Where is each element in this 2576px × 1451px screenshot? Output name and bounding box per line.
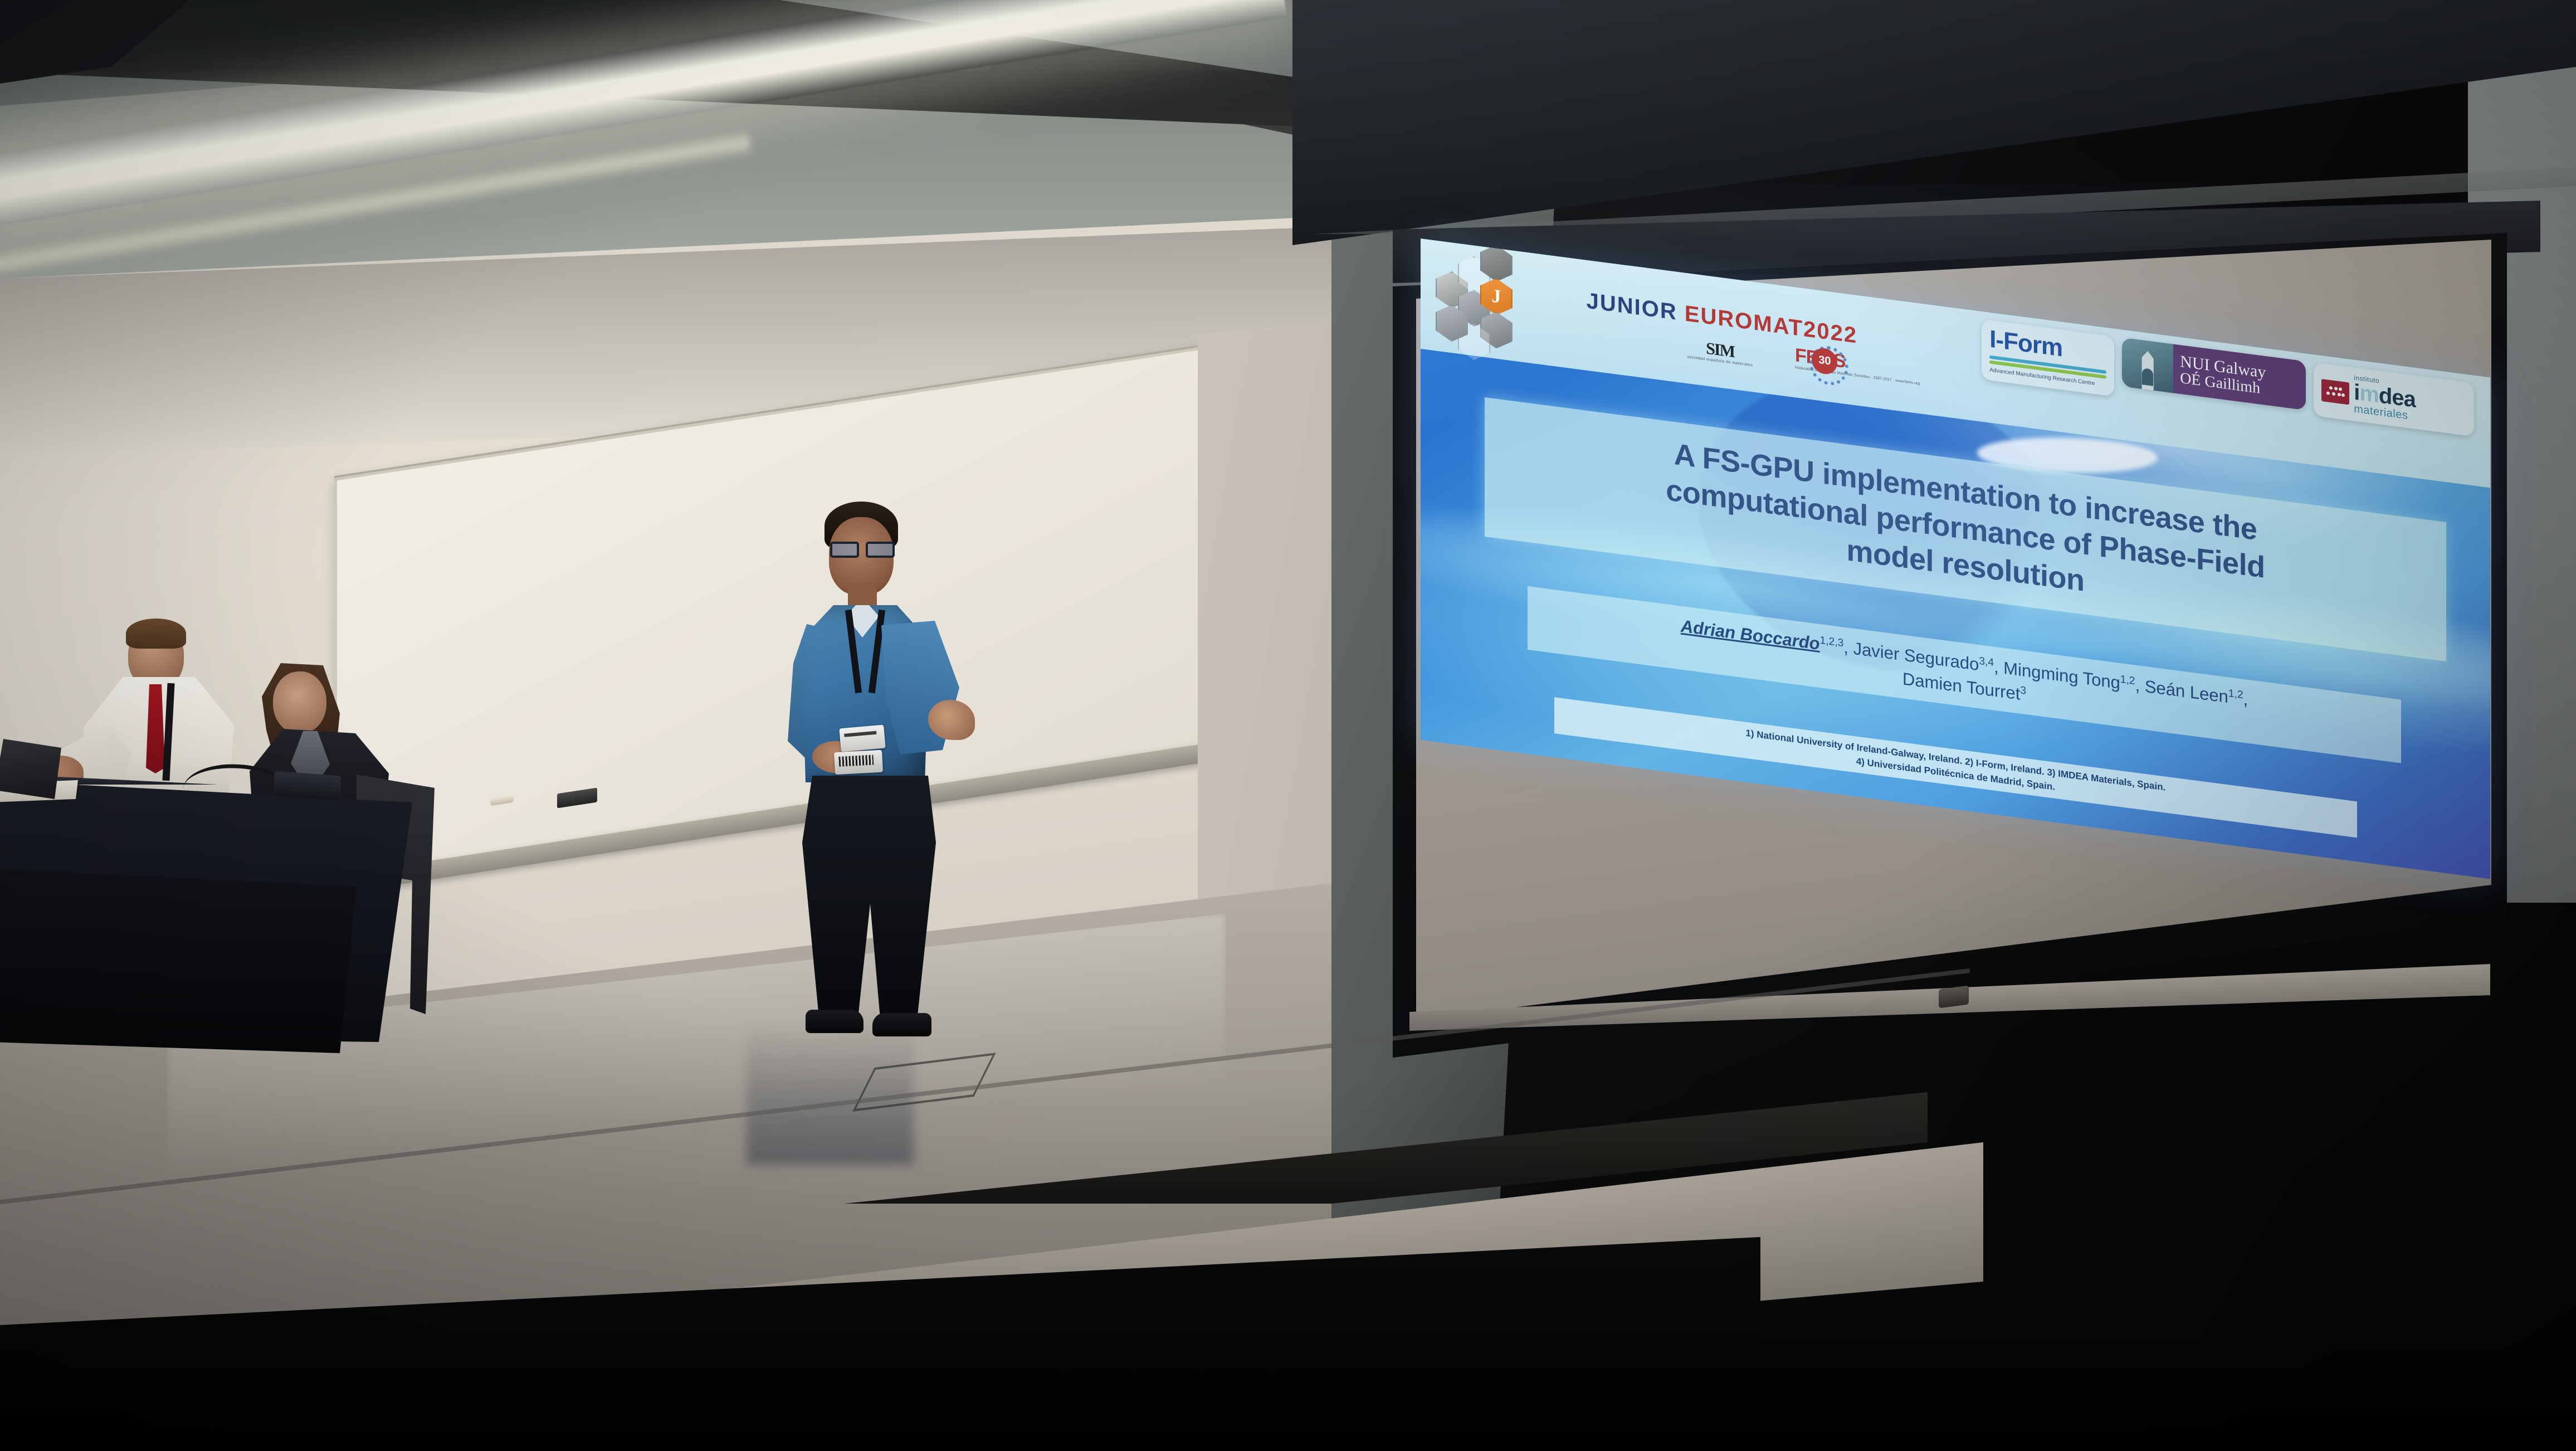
imdea-wordmark: instituto imdea materiales (2354, 374, 2416, 422)
speaker-legs (802, 776, 936, 1021)
speaker-right-shoe (872, 1013, 931, 1036)
speaker (741, 501, 975, 1036)
fems-logo: FEMS Federation of European Materials So… (1795, 347, 1934, 388)
speaker-badge-lower (834, 750, 883, 775)
author-4-sup: 1,2 (2228, 687, 2243, 700)
panel-table-front (0, 869, 357, 1053)
glasses-icon (830, 542, 895, 554)
author-3-sup: 1,2 (2120, 673, 2135, 686)
speaker-badge-upper (839, 725, 885, 752)
speaker-left-shoe (806, 1010, 863, 1033)
foreground-dark-band (0, 1337, 2576, 1451)
laptop (0, 739, 61, 799)
author-lead-sup: 1,2,3 (1820, 634, 1844, 649)
panel-chair-tie (146, 684, 165, 773)
nui-crest-icon (2122, 337, 2173, 393)
panel-cochair-head (273, 671, 326, 734)
speaker-right-hand (928, 700, 975, 740)
speaker-floor-reflection (747, 1020, 914, 1165)
imdea-name-i: i (2354, 379, 2359, 405)
conference-title: JUNIOR EUROMAT2022 (1587, 289, 1857, 349)
hexagon-cluster-icon: J (1436, 249, 1575, 364)
author-separator: , (2243, 689, 2248, 709)
microphone-base (274, 771, 341, 800)
projection-screen-pull-handle[interactable] (1939, 986, 1969, 1009)
conference-title-junior: JUNIOR (1587, 289, 1685, 326)
panel-chair-hair (126, 619, 186, 649)
projection-screen-assembly: J JUNIOR EUROMAT2022 SIM sociedad españo… (1393, 201, 2540, 1103)
author-5-sup: 3 (2020, 684, 2026, 697)
lecture-theatre-photo: J JUNIOR EUROMAT2022 SIM sociedad españo… (0, 0, 2576, 1451)
author-2-sup: 3,4 (1979, 655, 1994, 668)
sim-logo: SIM sociedad española de materiales (1672, 337, 1768, 369)
madrid-flag-icon (2321, 379, 2349, 405)
